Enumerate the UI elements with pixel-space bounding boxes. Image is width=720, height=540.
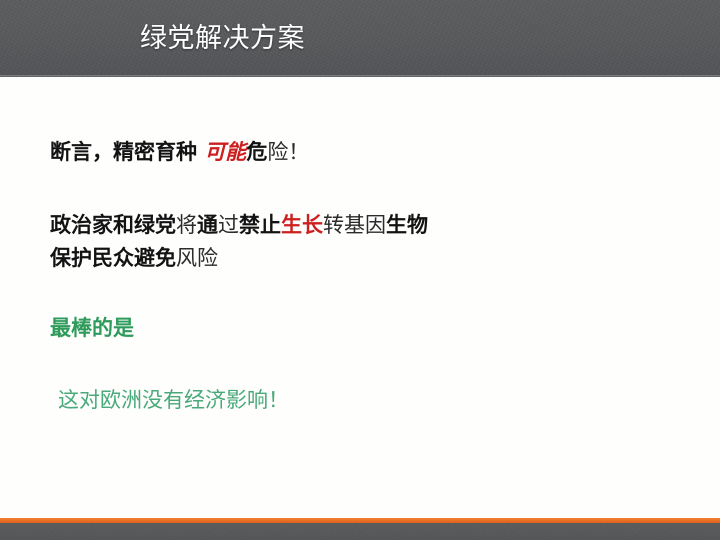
paragraph-politicians-part-4: 过 — [218, 213, 239, 237]
slide-header-band: 绿党解决方案 — [0, 0, 720, 77]
page-title: 绿党解决方案 — [140, 21, 305, 57]
paragraph-politicians-line-1: 政治家和绿党将通过禁止生长转基因生物 — [50, 209, 670, 242]
header-texture-overlay — [0, 0, 720, 77]
paragraph-politicians-part-8: 生物 — [386, 213, 428, 237]
paragraph-assertion-part-3: 危 — [246, 140, 267, 164]
paragraph-no-economic-impact: 这对欧洲没有经济影响！ — [50, 385, 670, 415]
spacer-3 — [50, 343, 670, 385]
paragraph-politicians-part-2: 将 — [176, 213, 197, 237]
paragraph-assertion: 断言，精密育种 可能危险！ — [50, 137, 670, 167]
paragraph-assertion-highlight-maybe: 可能 — [204, 140, 246, 164]
paragraph-protect-part-1: 保护民众避免 — [50, 246, 176, 270]
paragraph-politicians-part-3: 通 — [197, 213, 218, 237]
footer-texture-overlay — [0, 523, 720, 540]
slide-body: 断言，精密育种 可能危险！ 政治家和绿党将通过禁止生长转基因生物 保护民众避免风… — [0, 77, 720, 518]
body-text-block: 断言，精密育种 可能危险！ 政治家和绿党将通过禁止生长转基因生物 保护民众避免风… — [50, 137, 670, 415]
paragraph-assertion-part-1: 断言，精密育种 — [50, 140, 204, 164]
slide: 绿党解决方案 断言，精密育种 可能危险！ 政治家和绿党将通过禁止生长转基因生物 … — [0, 0, 720, 540]
paragraph-politicians-line-2: 保护民众避免风险 — [50, 242, 670, 275]
spacer-2 — [50, 275, 670, 313]
spacer-1 — [50, 167, 670, 209]
paragraph-best-part: 最棒的是 — [50, 313, 670, 343]
paragraph-protect-part-2: 风险 — [176, 246, 218, 270]
paragraph-politicians-part-7: 转基因 — [323, 213, 386, 237]
paragraph-politicians-highlight-growth: 生长 — [281, 213, 323, 237]
slide-footer-band — [0, 523, 720, 540]
paragraph-politicians-part-1: 政治家和绿党 — [50, 213, 176, 237]
paragraph-politicians-part-5: 禁止 — [239, 213, 281, 237]
paragraph-assertion-part-4: 险！ — [267, 140, 309, 164]
